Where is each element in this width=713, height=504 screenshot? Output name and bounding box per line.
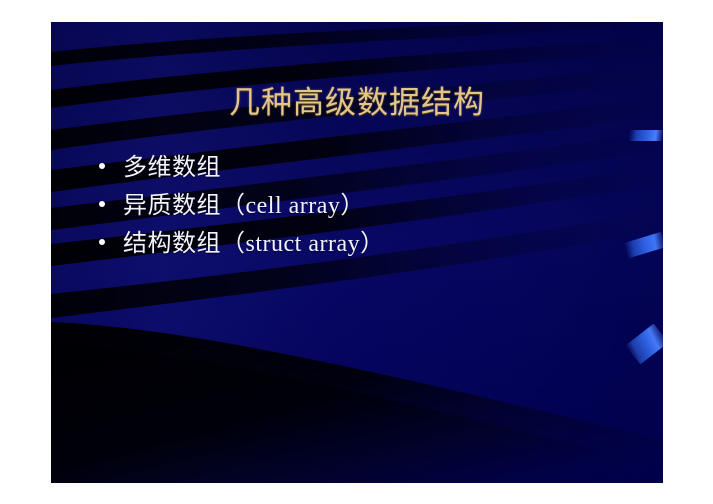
bullet-dot-icon [99, 201, 105, 207]
list-item-label: 多维数组 [123, 153, 221, 183]
slide-page: 几种高级数据结构 多维数组 异质数组（cell array） 结构数组（stru… [0, 0, 713, 504]
list-item: 异质数组（cell array） [99, 191, 643, 229]
bullet-dot-icon [99, 239, 105, 245]
slide-bullet-list: 多维数组 异质数组（cell array） 结构数组（struct array） [99, 153, 643, 267]
list-item: 结构数组（struct array） [99, 229, 643, 267]
slide-title: 几种高级数据结构 [51, 83, 663, 123]
presentation-slide: 几种高级数据结构 多维数组 异质数组（cell array） 结构数组（stru… [51, 22, 663, 483]
list-item-label: 结构数组（struct array） [123, 229, 385, 259]
list-item: 多维数组 [99, 153, 643, 191]
list-item-label: 异质数组（cell array） [123, 191, 365, 221]
bullet-dot-icon [99, 163, 105, 169]
